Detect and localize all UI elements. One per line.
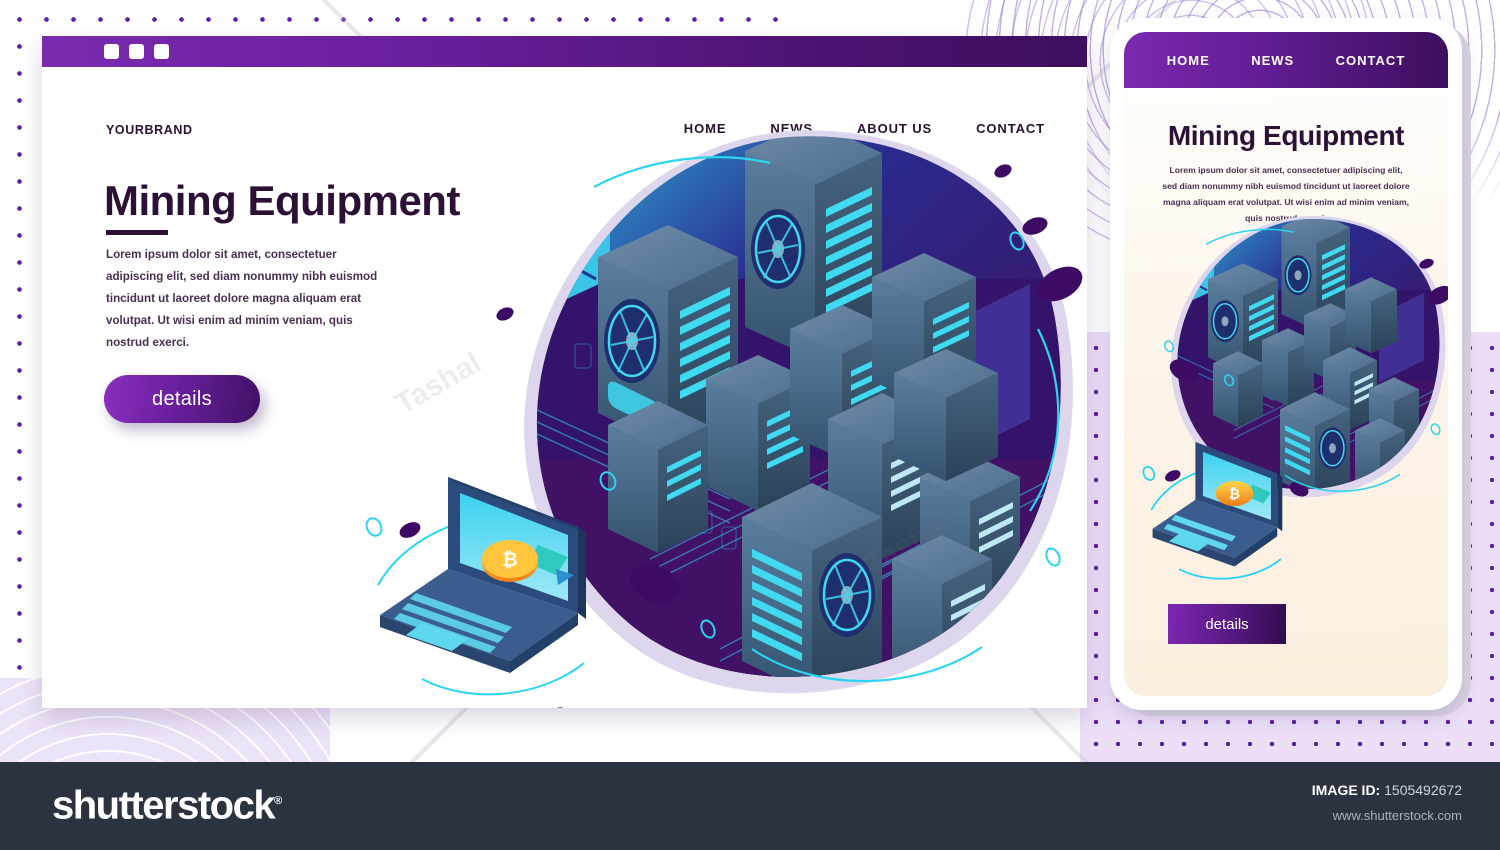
window-minimize-icon[interactable] <box>104 44 119 59</box>
image-id-value: 1505492672 <box>1384 782 1462 798</box>
watermark-tashal-1: Tashal <box>390 346 487 422</box>
browser-viewport: YOURBRAND HOME NEWS ABOUT US CONTACT Min… <box>42 67 1087 708</box>
shutterstock-footer-bar: shutterstock® IMAGE ID: 1505492672 www.s… <box>0 762 1500 850</box>
mobile-nav-item-news[interactable]: NEWS <box>1251 53 1294 68</box>
image-id-label: IMAGE ID: <box>1312 782 1380 798</box>
mobile-nav-item-home[interactable]: HOME <box>1167 53 1210 68</box>
footer-meta: IMAGE ID: 1505492672 www.shutterstock.co… <box>1312 782 1462 823</box>
window-close-icon[interactable] <box>154 44 169 59</box>
desktop-browser-mockup: YOURBRAND HOME NEWS ABOUT US CONTACT Min… <box>42 36 1087 708</box>
image-id-line: IMAGE ID: 1505492672 <box>1312 782 1462 798</box>
mobile-screen: HOME NEWS CONTACT Mining Equipment Lorem… <box>1124 32 1448 696</box>
mobile-phone-mockup: HOME NEWS CONTACT Mining Equipment Lorem… <box>1110 18 1462 710</box>
site-logo-text[interactable]: YOURBRAND <box>106 123 193 137</box>
footer-url: www.shutterstock.com <box>1312 808 1462 823</box>
laptop-svg: ₿ <box>360 465 630 708</box>
laptop-with-bitcoin-illustration: ₿ <box>360 465 630 708</box>
browser-title-bar <box>42 36 1087 67</box>
hero-title: Mining Equipment <box>104 177 460 225</box>
mobile-navbar: HOME NEWS CONTACT <box>1124 32 1448 88</box>
mobile-laptop-svg: ₿ <box>1140 434 1310 592</box>
svg-text:₿: ₿ <box>1229 486 1240 502</box>
registered-mark-icon: ® <box>274 795 282 807</box>
mobile-hero-title: Mining Equipment <box>1124 120 1448 152</box>
mobile-laptop-illustration: ₿ <box>1140 434 1310 592</box>
mobile-details-button[interactable]: details <box>1168 604 1286 644</box>
shutterstock-logo: shutterstock® <box>52 784 282 829</box>
details-button[interactable]: details <box>104 375 260 423</box>
hero-title-underline <box>106 230 168 235</box>
shutterstock-logo-text: shutterstock <box>52 784 274 828</box>
mobile-nav-item-contact[interactable]: CONTACT <box>1336 53 1406 68</box>
window-maximize-icon[interactable] <box>129 44 144 59</box>
hero-body-text: Lorem ipsum dolor sit amet, consectetuer… <box>106 244 378 354</box>
svg-text:₿: ₿ <box>502 550 517 571</box>
poster-canvas: YOURBRAND HOME NEWS ABOUT US CONTACT Min… <box>0 0 1500 850</box>
